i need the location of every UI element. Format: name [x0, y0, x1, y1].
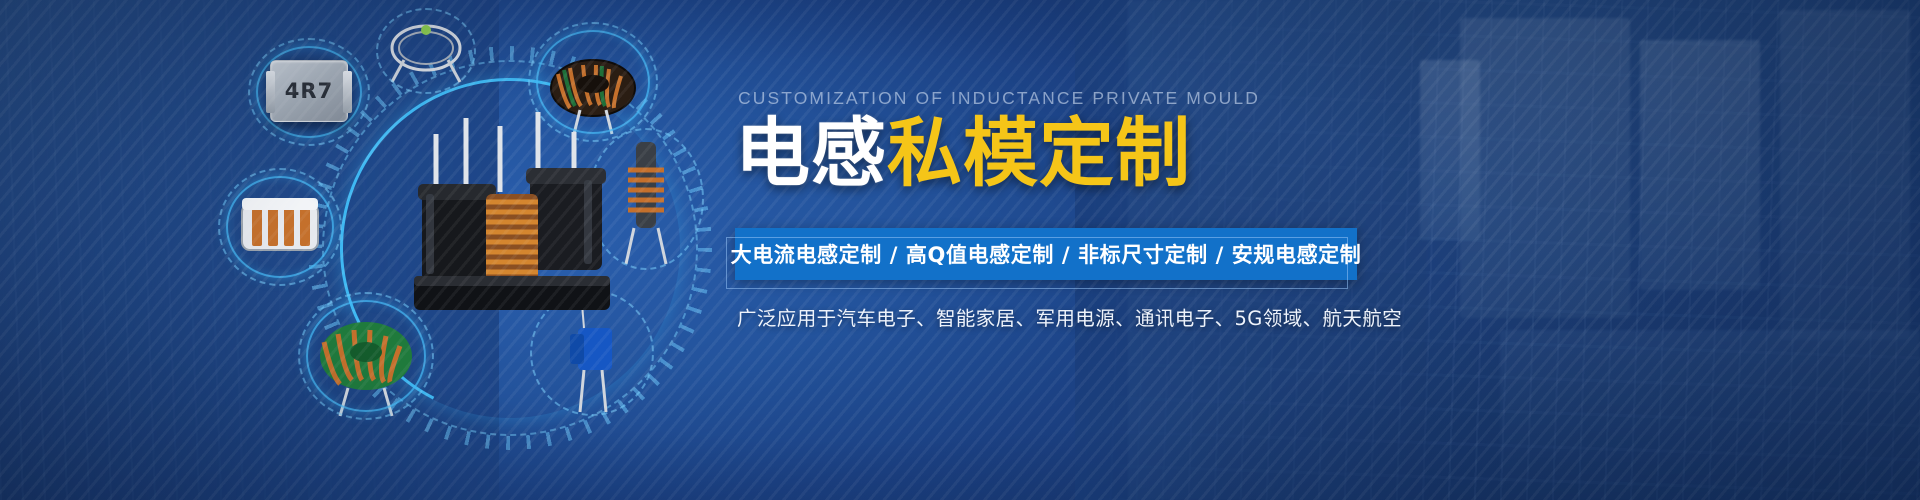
- banner-content: CUSTOMIZATION OF INDUCTANCE PRIVATE MOUL…: [735, 0, 1855, 500]
- page-title: 电感私模定制: [735, 112, 1191, 194]
- product-flat-wire-inductor: [218, 168, 342, 286]
- headline-accent: 私模定制: [887, 109, 1191, 197]
- chip-label-text: 4R7: [285, 79, 333, 103]
- product-showcase: 4R7: [190, 0, 750, 500]
- headline-primary: 电感: [735, 109, 887, 197]
- promo-banner: 4R7: [0, 0, 1920, 500]
- product-smd-power-inductor: 4R7: [248, 38, 370, 146]
- eyebrow-text: CUSTOMIZATION OF INDUCTANCE PRIVATE MOUL…: [738, 88, 1260, 109]
- chip-body: 4R7: [270, 60, 348, 122]
- applications-text: 广泛应用于汽车电子、智能家居、军用电源、通讯电子、5G领域、航天航空: [737, 302, 1402, 331]
- chip-pin-left: [266, 71, 275, 113]
- feature-bar-text: 大电流电感定制 / 高Q值电感定制 / 非标尺寸定制 / 安规电感定制: [731, 239, 1362, 269]
- tech-ring-dashed-icon: [376, 8, 476, 94]
- tech-ring-glow-icon: [226, 176, 334, 278]
- product-air-core-coil: [376, 8, 476, 94]
- emi-filter-assembly-icon: [388, 98, 638, 328]
- product-emi-filter-assembly: [388, 98, 638, 328]
- chip-pin-right: [343, 71, 352, 113]
- feature-bar: 大电流电感定制 / 高Q值电感定制 / 非标尺寸定制 / 安规电感定制: [735, 228, 1357, 280]
